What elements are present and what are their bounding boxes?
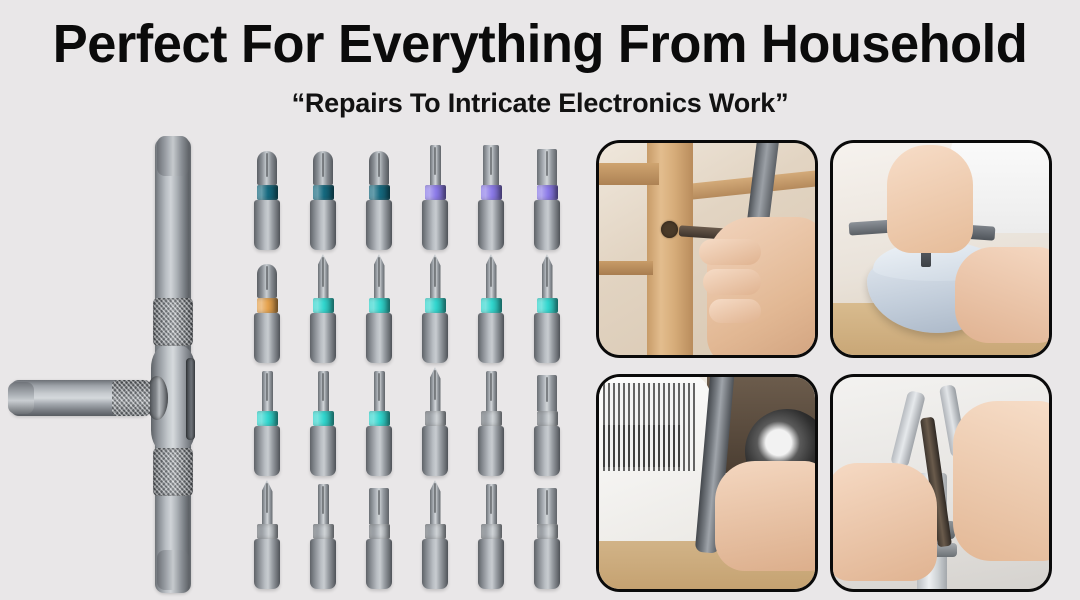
bit-color-band-teal bbox=[313, 185, 334, 200]
bit-color-band-teal bbox=[369, 185, 390, 200]
bit-hex-3mm[interactable] bbox=[478, 484, 504, 589]
center-slot bbox=[186, 358, 195, 440]
bit-color-band-teal bbox=[257, 185, 278, 200]
appliance-open-photo bbox=[833, 143, 1049, 355]
bit-shank bbox=[254, 426, 280, 476]
bit-tip bbox=[262, 480, 273, 524]
bit-shank bbox=[254, 200, 280, 250]
tile-plumbing-fix[interactable] bbox=[830, 374, 1052, 592]
bit-color-band-orange bbox=[257, 298, 278, 313]
bit-tip bbox=[318, 484, 329, 524]
hand-left bbox=[887, 145, 973, 253]
bit-shank bbox=[478, 539, 504, 589]
bit-row bbox=[248, 479, 584, 589]
bit-shank bbox=[310, 539, 336, 589]
bit-tip bbox=[262, 371, 273, 411]
product-banner: Perfect For Everything From Household “R… bbox=[0, 0, 1080, 600]
bit-color-band-none bbox=[425, 411, 446, 426]
bit-shank bbox=[422, 313, 448, 363]
bit-tip bbox=[537, 488, 557, 524]
bit-shank bbox=[422, 539, 448, 589]
bit-shank bbox=[310, 426, 336, 476]
plumbing-fix-photo bbox=[833, 377, 1049, 589]
cross-handle-cap bbox=[8, 382, 34, 414]
bit-socket-large[interactable] bbox=[534, 375, 560, 476]
bit-color-band-violet bbox=[537, 185, 558, 200]
bit-color-band-none bbox=[481, 524, 502, 539]
lower-knurled-grip bbox=[153, 448, 193, 496]
bit-torx-t6[interactable] bbox=[366, 254, 392, 363]
bit-row bbox=[248, 253, 584, 363]
bit-shank bbox=[422, 426, 448, 476]
bit-torx-t15[interactable] bbox=[310, 371, 336, 476]
wood-rail-lower bbox=[599, 261, 653, 275]
bit-torx-t20[interactable] bbox=[366, 371, 392, 476]
bit-tip bbox=[430, 145, 441, 185]
bit-shank bbox=[534, 539, 560, 589]
bit-color-band-violet bbox=[425, 185, 446, 200]
page-title: Perfect For Everything From Household bbox=[16, 16, 1064, 73]
bit-shank bbox=[422, 200, 448, 250]
bit-shank bbox=[366, 539, 392, 589]
bit-phillips-xl[interactable] bbox=[310, 151, 336, 250]
bit-color-band-violet bbox=[481, 185, 502, 200]
bit-color-band-none bbox=[257, 524, 278, 539]
bit-color-band-none bbox=[537, 411, 558, 426]
bit-tip bbox=[486, 254, 497, 298]
finger bbox=[699, 239, 761, 265]
bit-hex-1mm[interactable] bbox=[422, 480, 448, 589]
bit-shank bbox=[478, 200, 504, 250]
bit-hex-0.7mm[interactable] bbox=[254, 480, 280, 589]
bit-shank bbox=[254, 539, 280, 589]
furniture-repair-photo bbox=[599, 143, 815, 355]
bit-phillips-med[interactable] bbox=[366, 151, 392, 250]
bit-torx-t9[interactable] bbox=[534, 254, 560, 363]
bit-socket-5mm[interactable] bbox=[366, 488, 392, 589]
bit-color-band-none bbox=[537, 524, 558, 539]
bit-tip bbox=[430, 367, 441, 411]
upper-knurled-grip bbox=[153, 298, 193, 346]
bit-tip bbox=[318, 371, 329, 411]
tile-furniture-repair[interactable] bbox=[596, 140, 818, 358]
bit-tip bbox=[257, 264, 277, 298]
page-subtitle: “Repairs To Intricate Electronics Work” bbox=[0, 88, 1080, 119]
t-handle-screwdriver bbox=[0, 130, 240, 600]
bit-tip bbox=[486, 371, 497, 411]
bit-hex-2mm[interactable] bbox=[478, 371, 504, 476]
bit-shank bbox=[534, 200, 560, 250]
bit-tip bbox=[486, 484, 497, 524]
bit-color-band-none bbox=[481, 411, 502, 426]
bottom-shaft-cap bbox=[157, 550, 189, 590]
bit-color-band-none bbox=[369, 524, 390, 539]
bit-shank bbox=[478, 313, 504, 363]
bit-torx-t10[interactable] bbox=[254, 371, 280, 476]
bit-color-band-cyan bbox=[313, 411, 334, 426]
bit-phillips-ph2[interactable] bbox=[254, 264, 280, 363]
bit-hex-2.5mm[interactable] bbox=[310, 484, 336, 589]
bit-row bbox=[248, 366, 584, 476]
ventilation-grille-lower bbox=[603, 425, 681, 467]
cross-handle-knurled-grip bbox=[112, 380, 150, 416]
bit-torx-t7[interactable] bbox=[422, 254, 448, 363]
bit-tip bbox=[537, 149, 557, 185]
bit-tip bbox=[313, 151, 333, 185]
hand-right bbox=[955, 247, 1052, 343]
bit-row bbox=[248, 140, 584, 250]
electronics-fix-photo bbox=[599, 377, 815, 589]
photo-tile-grid bbox=[596, 140, 1058, 592]
bit-tip bbox=[369, 488, 389, 524]
bit-color-band-cyan bbox=[481, 298, 502, 313]
bit-torx-t5[interactable] bbox=[310, 254, 336, 363]
top-shaft-cap bbox=[157, 136, 189, 176]
bit-tip bbox=[374, 371, 385, 411]
bit-tip bbox=[369, 151, 389, 185]
bit-tip bbox=[542, 254, 553, 298]
bit-flat-large[interactable] bbox=[534, 149, 560, 250]
bit-phillips-large[interactable] bbox=[254, 151, 280, 250]
wood-rail-top bbox=[599, 163, 659, 185]
bit-tip bbox=[483, 145, 499, 185]
finger bbox=[703, 269, 761, 295]
bit-flat-med[interactable] bbox=[478, 145, 504, 250]
bit-hex-1.5mm[interactable] bbox=[422, 367, 448, 476]
hand-left bbox=[830, 463, 937, 581]
bit-shank bbox=[534, 313, 560, 363]
tile-electronics-fix[interactable] bbox=[596, 374, 818, 592]
bit-socket-6mm[interactable] bbox=[534, 488, 560, 589]
bit-shank bbox=[310, 313, 336, 363]
bit-color-band-cyan bbox=[537, 298, 558, 313]
bit-shank bbox=[366, 426, 392, 476]
bit-tip bbox=[537, 375, 557, 411]
bit-flat-small[interactable] bbox=[422, 145, 448, 250]
screw-hole bbox=[661, 221, 678, 238]
bit-shank bbox=[366, 200, 392, 250]
bit-color-band-none bbox=[425, 524, 446, 539]
bit-tip bbox=[257, 151, 277, 185]
bit-tip bbox=[430, 480, 441, 524]
bit-shank bbox=[254, 313, 280, 363]
bit-color-band-cyan bbox=[425, 298, 446, 313]
bit-grid bbox=[248, 140, 584, 590]
finger bbox=[709, 299, 761, 323]
hand-right bbox=[953, 401, 1052, 561]
bit-color-band-cyan bbox=[369, 298, 390, 313]
bit-color-band-cyan bbox=[313, 298, 334, 313]
bit-color-band-cyan bbox=[257, 411, 278, 426]
bit-color-band-cyan bbox=[369, 411, 390, 426]
bit-tip bbox=[318, 254, 329, 298]
bit-color-band-none bbox=[313, 524, 334, 539]
tile-appliance-open[interactable] bbox=[830, 140, 1052, 358]
bit-shank bbox=[534, 426, 560, 476]
bit-tip bbox=[374, 254, 385, 298]
bit-shank bbox=[478, 426, 504, 476]
bit-torx-t8[interactable] bbox=[478, 254, 504, 363]
bit-shank bbox=[310, 200, 336, 250]
bit-tip bbox=[430, 254, 441, 298]
bit-shank bbox=[366, 313, 392, 363]
hand bbox=[715, 461, 818, 571]
